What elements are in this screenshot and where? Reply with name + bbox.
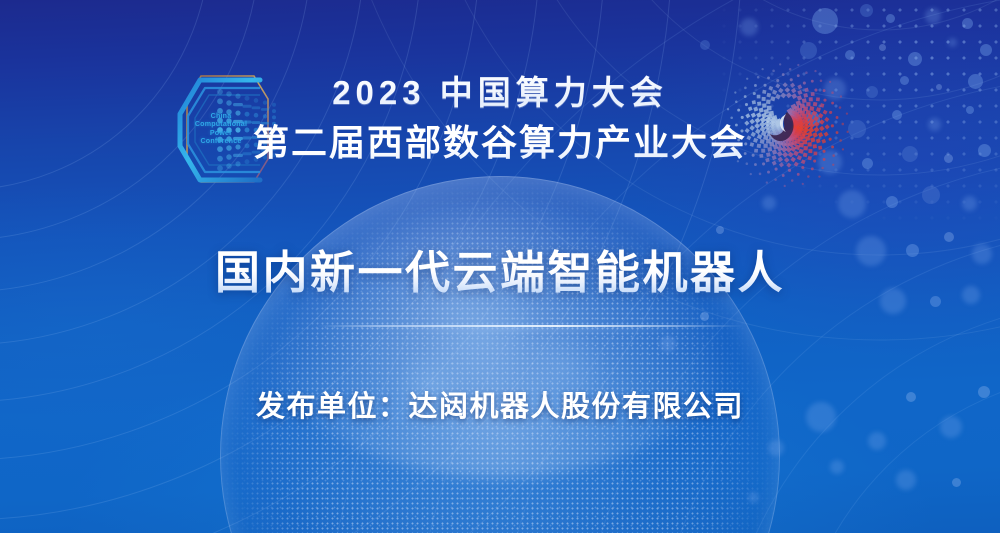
logo-line-2: Computational <box>190 120 252 128</box>
logo-line-4: Conference <box>190 137 252 145</box>
logo-line-3: Power <box>190 129 252 137</box>
radial-square-spiral-graphic <box>722 62 852 188</box>
logo-text-block: China Computational Power Conference <box>190 112 252 145</box>
china-computational-power-conference-logo: China Computational Power Conference <box>168 68 286 190</box>
conference-poster: China Computational Power Conference 202… <box>0 0 1000 533</box>
